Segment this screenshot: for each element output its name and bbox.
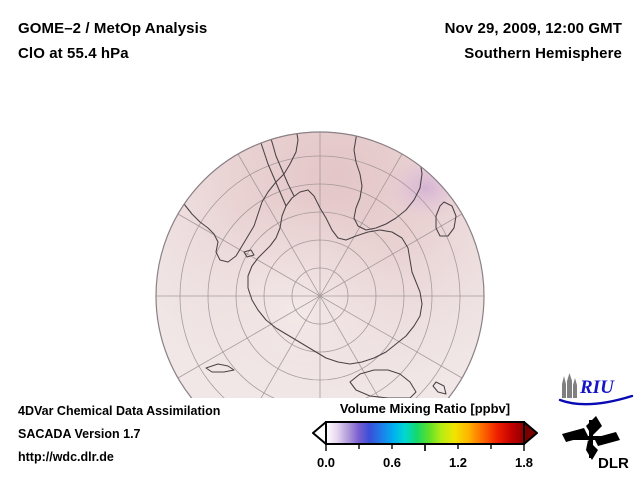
colorbar-title: Volume Mixing Ratio [ppbv] — [312, 401, 538, 416]
coast-islands-indian — [428, 164, 436, 172]
dlr-logo-text: DLR — [598, 455, 629, 472]
hemisphere-label: Southern Hemisphere — [445, 41, 622, 66]
datetime-label: Nov 29, 2009, 12:00 GMT — [445, 16, 622, 41]
dlr-mark-icon — [562, 416, 620, 460]
header-right: Nov 29, 2009, 12:00 GMT Southern Hemisph… — [445, 16, 622, 66]
colorbar-tick-label-3: 1.8 — [515, 455, 533, 470]
coast-islands-indian-2 — [440, 177, 446, 183]
globe-svg — [148, 70, 492, 398]
footer-line-version: SACADA Version 1.7 — [18, 423, 220, 446]
globe-disk — [148, 70, 492, 398]
colorbar-tick-label-0: 0.0 — [317, 455, 335, 470]
colorbar-tick-label-1: 0.6 — [383, 455, 401, 470]
clo-field-patch-africa — [384, 154, 468, 222]
colorbar-cap-max — [524, 422, 537, 444]
riu-logo-text: RIU — [579, 377, 615, 398]
footer-line-method: 4DVar Chemical Data Assimilation — [18, 400, 220, 423]
footer-text: 4DVar Chemical Data Assimilation SACADA … — [18, 400, 220, 469]
footer-line-url[interactable]: http://wdc.dlr.de — [18, 446, 220, 469]
globe-map — [148, 70, 492, 398]
species-level-title: ClO at 55.4 hPa — [18, 41, 207, 66]
figure-canvas: GOME–2 / MetOp Analysis ClO at 55.4 hPa … — [0, 0, 640, 480]
dlr-logo: DLR — [558, 414, 638, 472]
colorbar-svg — [312, 420, 538, 454]
colorbar-tick-label-2: 1.2 — [449, 455, 467, 470]
colorbar-cap-min — [313, 422, 326, 444]
colorbar-gradient — [326, 422, 524, 444]
instrument-title: GOME–2 / MetOp Analysis — [18, 16, 207, 41]
header-left: GOME–2 / MetOp Analysis ClO at 55.4 hPa — [18, 16, 207, 66]
colorbar: Volume Mixing Ratio [ppbv] — [312, 401, 538, 473]
riu-spires-icon — [562, 373, 577, 398]
riu-logo: RIU — [556, 372, 636, 406]
colorbar-tick-labels: 0.0 0.6 1.2 1.8 — [312, 455, 538, 473]
